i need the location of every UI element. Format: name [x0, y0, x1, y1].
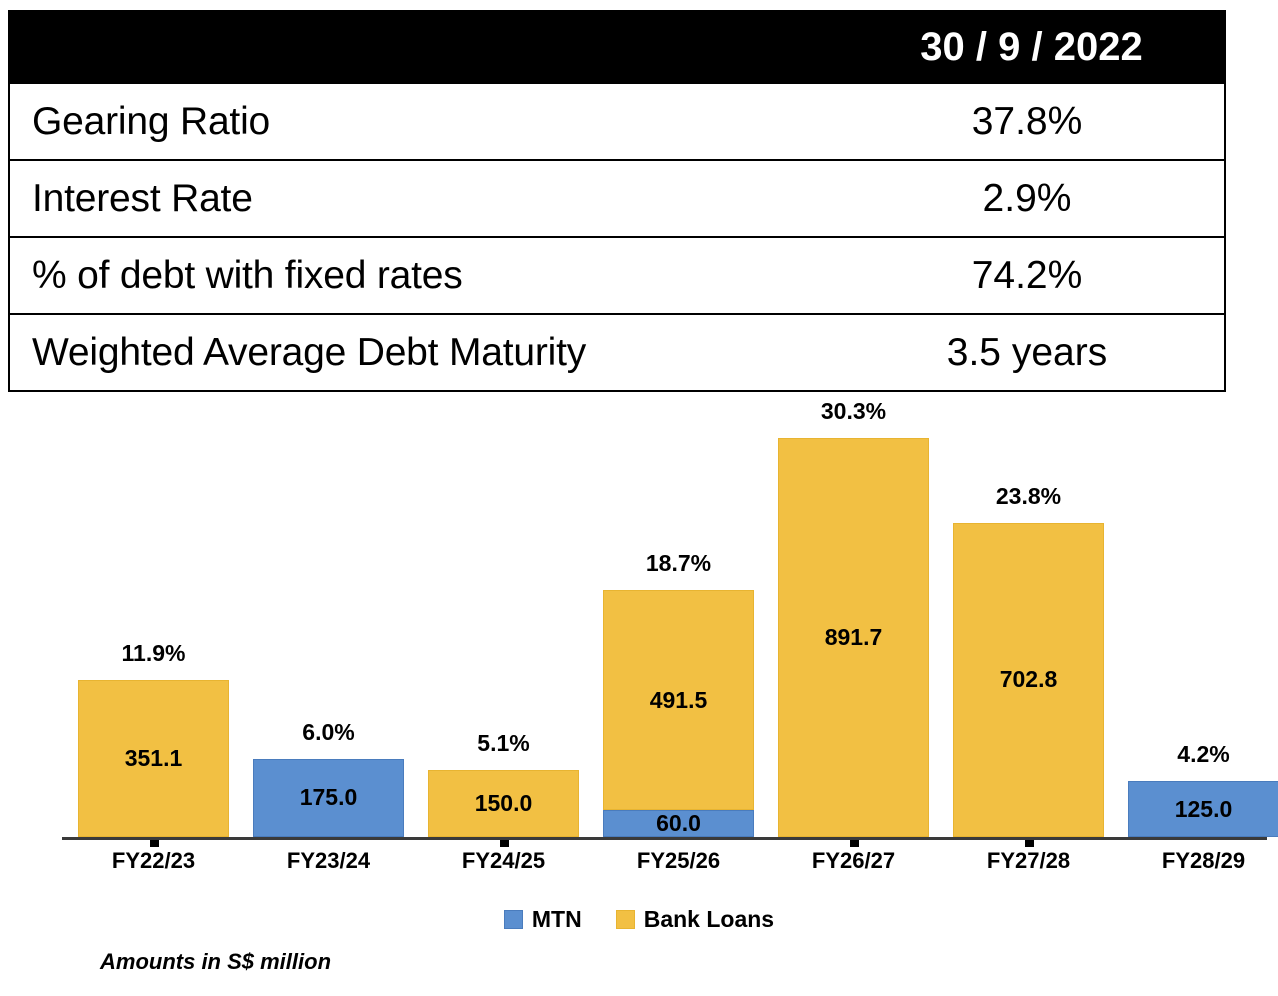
row-value-interest-rate: 2.9% — [839, 160, 1225, 237]
summary-header-row: 30 / 9 / 2022 — [9, 11, 1225, 83]
chart-footnote: Amounts in S$ million — [100, 949, 331, 975]
bar-segment-bank-loans[interactable]: 702.8 — [953, 523, 1104, 837]
bar-percent-label: 18.7% — [603, 550, 754, 577]
legend-item-mtn: MTN — [504, 906, 582, 933]
bar-segment-bank-loans[interactable]: 351.1 — [78, 680, 229, 837]
bar-percent-label: 30.3% — [778, 398, 929, 425]
chart-legend: MTN Bank Loans — [0, 906, 1278, 933]
bar-segment-value-label: 60.0 — [656, 812, 701, 835]
legend-swatch-mtn-icon — [504, 910, 523, 929]
bar-percent-label: 23.8% — [953, 483, 1104, 510]
bar-segment-bank-loans[interactable]: 891.7 — [778, 438, 929, 837]
x-axis-label-fy23-24: FY23/24 — [253, 848, 404, 874]
x-axis-label-fy28-29: FY28/29 — [1128, 848, 1278, 874]
table-row: % of debt with fixed rates 74.2% — [9, 237, 1225, 314]
bar-segment-bank-loans[interactable]: 491.5 — [603, 590, 754, 810]
bar-segment-mtn[interactable]: 175.0 — [253, 759, 404, 837]
bar-fy22-23[interactable]: 351.1 — [78, 680, 229, 837]
bar-percent-label: 4.2% — [1128, 741, 1278, 768]
row-value-gearing-ratio: 37.8% — [839, 83, 1225, 160]
bar-segment-value-label: 491.5 — [650, 689, 708, 712]
x-axis-tick — [1025, 840, 1034, 847]
bar-segment-value-label: 351.1 — [125, 747, 183, 770]
bar-fy23-24[interactable]: 175.0 — [253, 759, 404, 837]
bar-fy24-25[interactable]: 150.0 — [428, 770, 579, 837]
bar-segment-value-label: 702.8 — [1000, 668, 1058, 691]
bar-percent-label: 11.9% — [78, 640, 229, 667]
row-label-gearing-ratio: Gearing Ratio — [9, 83, 839, 160]
bar-segment-value-label: 150.0 — [475, 792, 533, 815]
legend-swatch-bank-loans-icon — [616, 910, 635, 929]
bar-percent-label: 6.0% — [253, 719, 404, 746]
bar-segment-value-label: 125.0 — [1175, 798, 1233, 821]
row-value-fixed-rate-debt: 74.2% — [839, 237, 1225, 314]
bar-fy26-27[interactable]: 891.7 — [778, 438, 929, 837]
x-axis-tick — [150, 840, 159, 847]
bar-segment-value-label: 891.7 — [825, 626, 883, 649]
summary-header-blank — [9, 11, 839, 83]
x-axis-tick — [500, 840, 509, 847]
summary-table-header: 30 / 9 / 2022 — [9, 11, 1225, 83]
bar-percent-label: 5.1% — [428, 730, 579, 757]
legend-label-mtn: MTN — [532, 906, 582, 933]
legend-item-bank-loans: Bank Loans — [616, 906, 774, 933]
table-row: Weighted Average Debt Maturity 3.5 years — [9, 314, 1225, 391]
row-label-interest-rate: Interest Rate — [9, 160, 839, 237]
row-label-fixed-rate-debt: % of debt with fixed rates — [9, 237, 839, 314]
bar-segment-value-label: 175.0 — [300, 786, 358, 809]
bar-fy28-29[interactable]: 125.0 — [1128, 781, 1278, 837]
x-axis-label-fy22-23: FY22/23 — [78, 848, 229, 874]
debt-maturity-profile-chart: 351.111.9%FY22/23175.06.0%FY23/24150.05.… — [0, 396, 1278, 996]
bar-fy25-26[interactable]: 491.560.0 — [603, 590, 754, 837]
summary-header-date: 30 / 9 / 2022 — [839, 11, 1225, 83]
bar-segment-bank-loans[interactable]: 150.0 — [428, 770, 579, 837]
bar-fy27-28[interactable]: 702.8 — [953, 523, 1104, 837]
table-row: Interest Rate 2.9% — [9, 160, 1225, 237]
chart-plot-area: 351.111.9%FY22/23175.06.0%FY23/24150.05.… — [0, 396, 1278, 838]
x-axis-tick — [850, 840, 859, 847]
x-axis-line — [62, 837, 1267, 840]
x-axis-label-fy27-28: FY27/28 — [953, 848, 1104, 874]
x-axis-label-fy26-27: FY26/27 — [778, 848, 929, 874]
summary-table-body: Gearing Ratio 37.8% Interest Rate 2.9% %… — [9, 83, 1225, 391]
row-label-weighted-average-debt-maturity: Weighted Average Debt Maturity — [9, 314, 839, 391]
bar-segment-mtn[interactable]: 60.0 — [603, 810, 754, 837]
debt-summary-table: 30 / 9 / 2022 Gearing Ratio 37.8% Intere… — [8, 10, 1226, 392]
row-value-weighted-average-debt-maturity: 3.5 years — [839, 314, 1225, 391]
bar-segment-mtn[interactable]: 125.0 — [1128, 781, 1278, 837]
x-axis-label-fy25-26: FY25/26 — [603, 848, 754, 874]
x-axis-label-fy24-25: FY24/25 — [428, 848, 579, 874]
legend-label-bank-loans: Bank Loans — [644, 906, 774, 933]
table-row: Gearing Ratio 37.8% — [9, 83, 1225, 160]
